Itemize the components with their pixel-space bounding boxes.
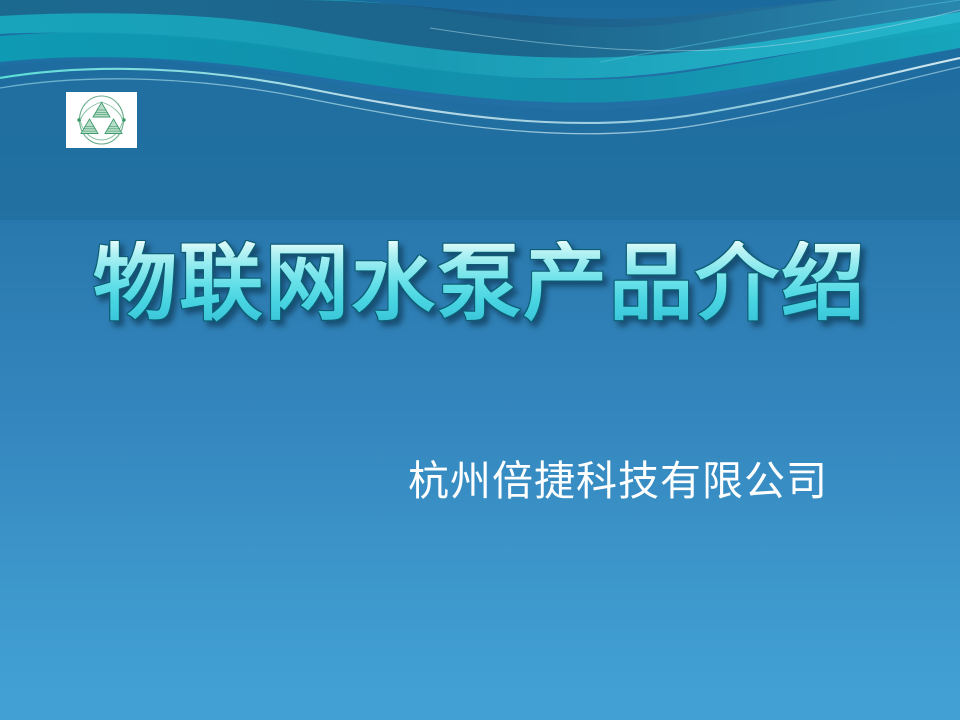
slide-title[interactable]: 物联网水泵产品介绍 bbox=[60, 228, 900, 338]
presentation-slide: 物联网水泵产品介绍 杭州倍捷科技有限公司 bbox=[0, 0, 960, 720]
slide-subtitle[interactable]: 杭州倍捷科技有限公司 bbox=[300, 458, 900, 505]
three-pyramids-in-circle-icon bbox=[66, 92, 137, 148]
slide-subtitle-text: 杭州倍捷科技有限公司 bbox=[408, 457, 828, 505]
background-wave-graphic bbox=[0, 0, 960, 220]
slide-title-text: 物联网水泵产品介绍 bbox=[93, 241, 867, 325]
company-logo[interactable] bbox=[66, 92, 137, 148]
